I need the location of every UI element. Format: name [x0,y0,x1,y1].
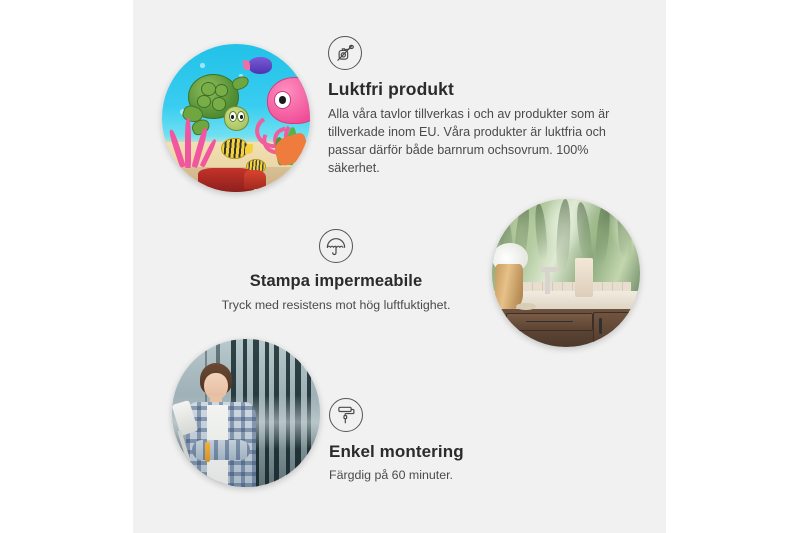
underwater-kids-illustration-disc [162,44,310,192]
umbrella-icon [319,229,353,263]
no-perfume-icon [328,36,362,70]
no-perfume-icon-wrap [328,36,620,70]
feature-easy-installation: Enkel montering Färgdig på 60 minuter. [329,398,549,485]
feature-heading: Stampa impermeabile [205,271,467,292]
paint-roller-icon [329,398,363,432]
woman-paint-roller-forest-disc [172,339,320,487]
paint-roller-icon-wrap [329,398,549,432]
bathroom-leaf-wallpaper-disc [492,199,640,347]
umbrella-icon-wrap [205,229,467,263]
feature-heading: Luktfri produkt [328,79,620,101]
feature-heading: Enkel montering [329,441,549,462]
feature-body: Tryck med resistens mot hög luftfuktighe… [205,297,467,315]
feature-body: Färgdig på 60 minuter. [329,467,549,485]
feature-odour-free: Luktfri produkt Alla våra tavlor tillver… [328,36,620,177]
product-feature-infographic: Luktfri produkt Alla våra tavlor tillver… [0,0,800,533]
feature-waterproof-print: Stampa impermeabile Tryck med resistens … [205,229,467,314]
feature-body: Alla våra tavlor tillverkas i och av pro… [328,106,620,178]
